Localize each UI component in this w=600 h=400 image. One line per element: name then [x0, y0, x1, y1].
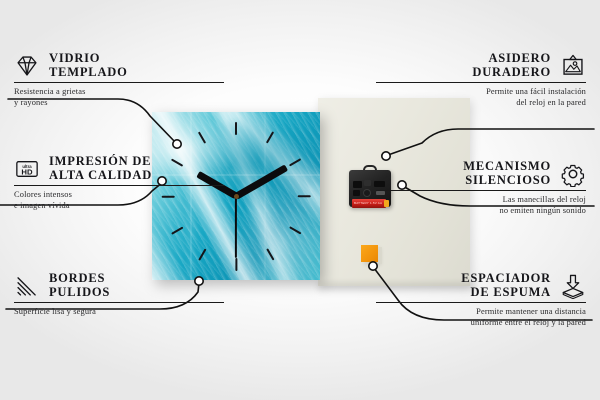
feature-title: ASIDERO DURADERO — [472, 52, 551, 79]
feature-impresion-alta-calidad: ultra HD IMPRESIÓN DE ALTA CALIDAD Color… — [14, 155, 224, 211]
picture-frame-hanger-icon — [560, 53, 586, 79]
feature-title: MECANISMO SILENCIOSO — [463, 160, 551, 187]
foam-spacer-arrow-icon — [560, 273, 586, 299]
feature-rule — [376, 82, 586, 83]
mechanism-shaft — [363, 189, 371, 197]
feature-header: MECANISMO SILENCIOSO — [376, 160, 586, 187]
feature-rule — [376, 302, 586, 303]
feature-mecanismo-silencioso: MECANISMO SILENCIOSO Las manecillas del … — [376, 160, 586, 216]
feature-rule — [14, 185, 224, 186]
clock-tick — [297, 195, 310, 197]
feature-header: ESPACIADOR DE ESPUMA — [376, 272, 586, 299]
feature-rule — [376, 190, 586, 191]
feature-title: BORDES PULIDOS — [49, 272, 110, 299]
foam-spacer — [361, 245, 378, 262]
feature-header: VIDRIO TEMPLADO — [14, 52, 224, 79]
feature-header: BORDES PULIDOS — [14, 272, 224, 299]
feature-title: VIDRIO TEMPLADO — [49, 52, 128, 79]
gear-icon — [560, 161, 586, 187]
feature-title: ESPACIADOR DE ESPUMA — [461, 272, 551, 299]
feature-rule — [14, 302, 224, 303]
mechanism-detail — [353, 181, 362, 188]
mechanism-detail — [353, 190, 360, 196]
feature-bordes-pulidos: BORDES PULIDOS Superficie lisa y segura — [14, 272, 224, 318]
clock-center-cap — [234, 194, 239, 199]
feature-header: ultra HD IMPRESIÓN DE ALTA CALIDAD — [14, 155, 224, 182]
mechanism-detail — [364, 180, 371, 186]
feature-title: IMPRESIÓN DE ALTA CALIDAD — [49, 155, 152, 182]
svg-text:HD: HD — [21, 167, 33, 176]
diamond-icon — [14, 53, 40, 79]
polished-edges-icon — [14, 273, 40, 299]
infographic-stage: BATTERY 1.5V AA — [0, 0, 600, 400]
feature-rule — [14, 82, 224, 83]
clock-second-hand — [235, 196, 237, 258]
ultra-hd-icon: ultra HD — [14, 156, 40, 182]
feature-asidero-duradero: ASIDERO DURADERO Permite una fácil insta… — [376, 52, 586, 108]
feature-espaciador-espuma: ESPACIADOR DE ESPUMA Permite mantener un… — [376, 272, 586, 328]
feature-vidrio-templado: VIDRIO TEMPLADO Resistencia a grietas y … — [14, 52, 224, 108]
clock-tick — [235, 258, 237, 271]
feature-header: ASIDERO DURADERO — [376, 52, 586, 79]
